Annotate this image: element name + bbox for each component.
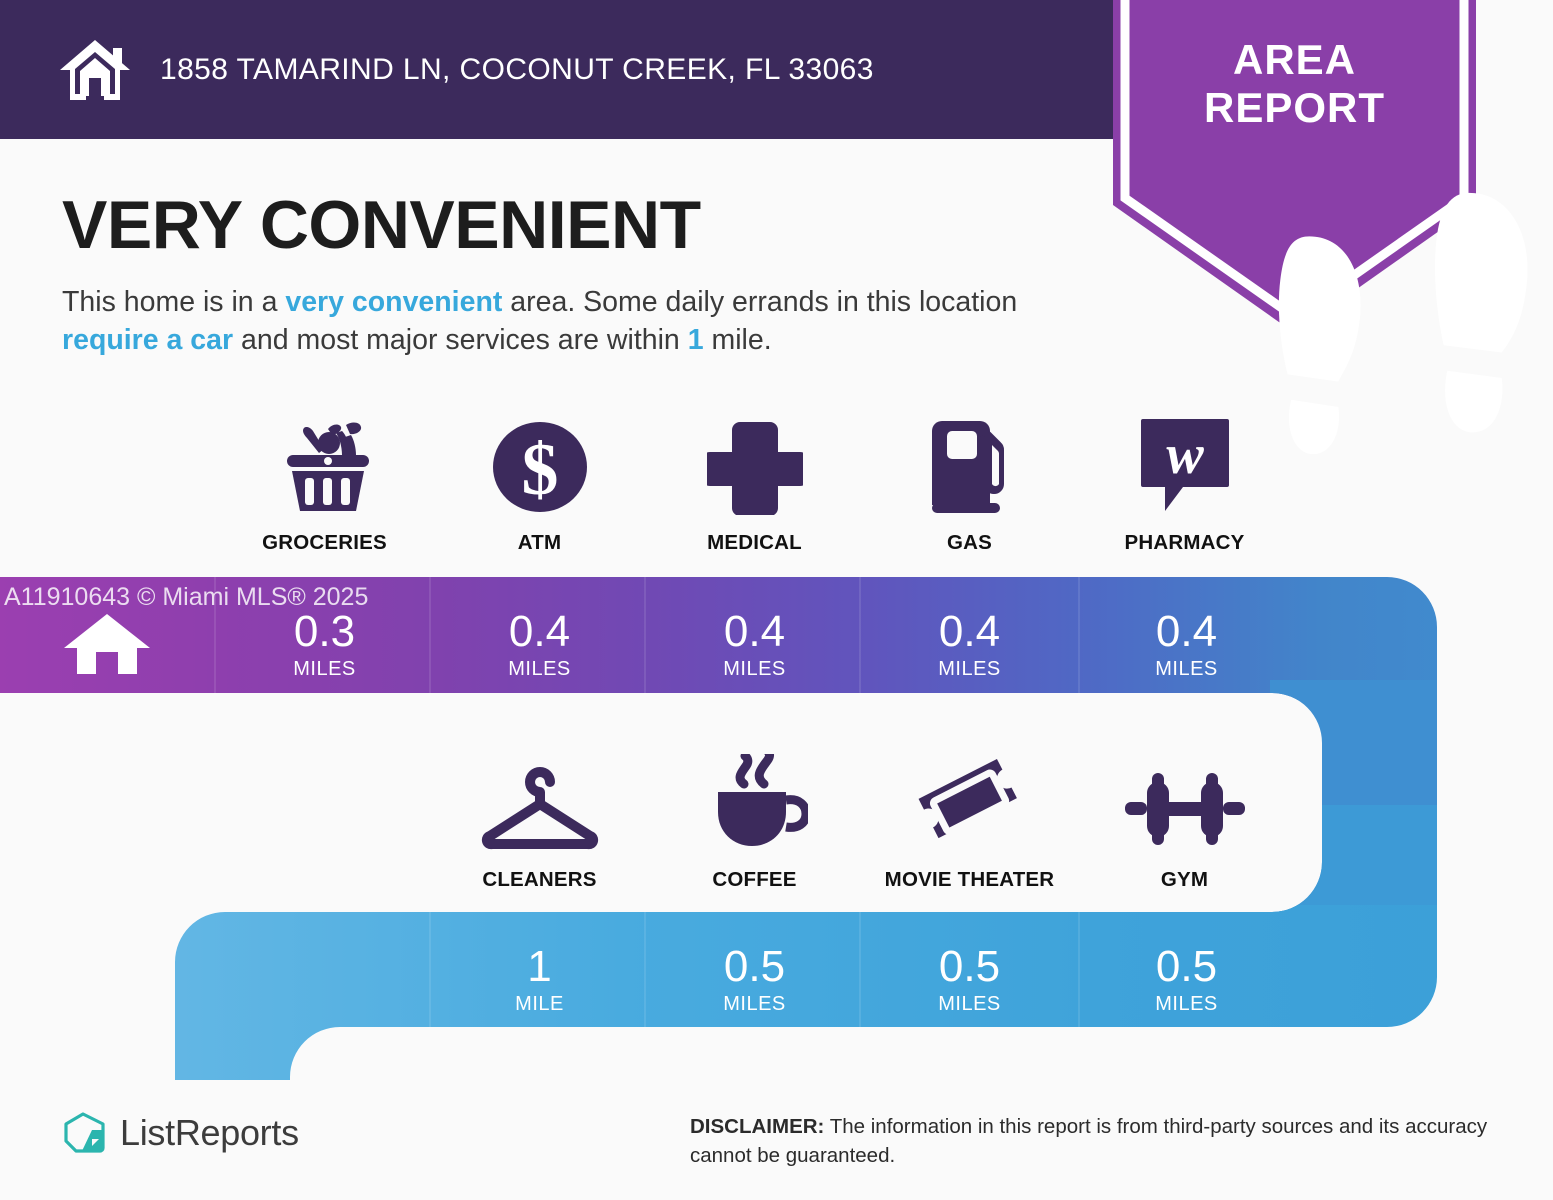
distance-unit: MILES [862,657,1077,681]
amenity-gas[interactable]: GAS [862,415,1077,555]
header-bar: 1858 TAMARIND LN, COCONUT CREEK, FL 3306… [0,0,1120,139]
distance-value: 0.4 [432,607,647,657]
distance-gym: 0.5 MILES [1079,942,1294,1016]
distance-unit: MILE [432,992,647,1016]
summary-highlight-convenient: very convenient [285,286,502,318]
amenity-label: PHARMACY [1124,531,1244,555]
distance-gas: 0.4 MILES [862,607,1077,681]
distance-unit: MILES [862,992,1077,1016]
distance-value: 0.5 [862,942,1077,992]
row1-left-spacer [0,415,217,555]
amenity-label: GROCERIES [262,531,387,555]
area-report-page: 1858 TAMARIND LN, COCONUT CREEK, FL 3306… [0,0,1553,1200]
gas-pump-icon [920,415,1020,515]
dollar-coin-icon: $ [490,415,590,515]
distance-unit: MILES [217,657,432,681]
disclaimer-label: DISCLAIMER: [690,1115,824,1138]
distance-value: 0.5 [647,942,862,992]
distance-groceries: 0.3 MILES [217,607,432,681]
summary-part1: This home is in a [62,286,285,318]
svg-text:$: $ [521,429,558,511]
listreports-wordmark: ListReports [120,1112,299,1154]
distance-unit: MILES [432,657,647,681]
distance-value: 0.4 [862,607,1077,657]
listreports-logo[interactable]: ListReports [62,1110,299,1156]
amenity-label: GAS [947,531,992,555]
distance-value: 0.5 [1079,942,1294,992]
distance-unit: MILES [1079,657,1294,681]
distance-movie-theater: 0.5 MILES [862,942,1077,1016]
badge-title-line2: REPORT [1113,84,1476,132]
distance-value: 1 [432,942,647,992]
badge-title-line1: AREA [1113,36,1476,84]
amenity-label: ATM [518,531,561,555]
distance-coffee: 0.5 MILES [647,942,862,1016]
amenity-label: MEDICAL [707,531,802,555]
summary-part2: area. Some daily errands in this locatio… [502,286,1017,318]
property-address: 1858 TAMARIND LN, COCONUT CREEK, FL 3306… [160,53,874,87]
amenity-groceries[interactable]: GROCERIES [217,415,432,555]
badge-title: AREA REPORT [1113,36,1476,132]
distance-cleaners: 1 MILE [432,942,647,1016]
page-title: VERY CONVENIENT [62,186,701,264]
distance-atm: 0.4 MILES [432,607,647,681]
medical-cross-icon [707,415,803,515]
distance-unit: MILES [647,657,862,681]
walgreens-w-icon: w [1137,415,1233,515]
distance-value: 0.3 [217,607,432,657]
amenity-icon-row-1: GROCERIES $ ATM MEDICAL [0,415,1553,555]
home-icon [58,38,132,102]
distance-value: 0.4 [1079,607,1294,657]
summary-text: This home is in a very convenient area. … [62,283,1102,359]
distance-pharmacy: 0.4 MILES [1079,607,1294,681]
amenity-atm[interactable]: $ ATM [432,415,647,555]
groceries-basket-icon [272,415,377,515]
svg-text:w: w [1166,424,1204,486]
distance-unit: MILES [1079,992,1294,1016]
distance-unit: MILES [647,992,862,1016]
summary-highlight-car: require a car [62,324,233,356]
area-report-badge: AREA REPORT [1113,0,1476,333]
listreports-house-tag-icon [62,1110,108,1156]
distance-medical: 0.4 MILES [647,607,862,681]
summary-part3: and most major services are within [233,324,688,356]
home-icon [62,612,152,676]
amenity-pharmacy[interactable]: w PHARMACY [1077,415,1292,555]
summary-highlight-miles: 1 [688,324,704,356]
amenity-medical[interactable]: MEDICAL [647,415,862,555]
summary-part4: mile. [704,324,772,356]
distance-value: 0.4 [647,607,862,657]
disclaimer: DISCLAIMER: The information in this repo… [690,1112,1500,1170]
